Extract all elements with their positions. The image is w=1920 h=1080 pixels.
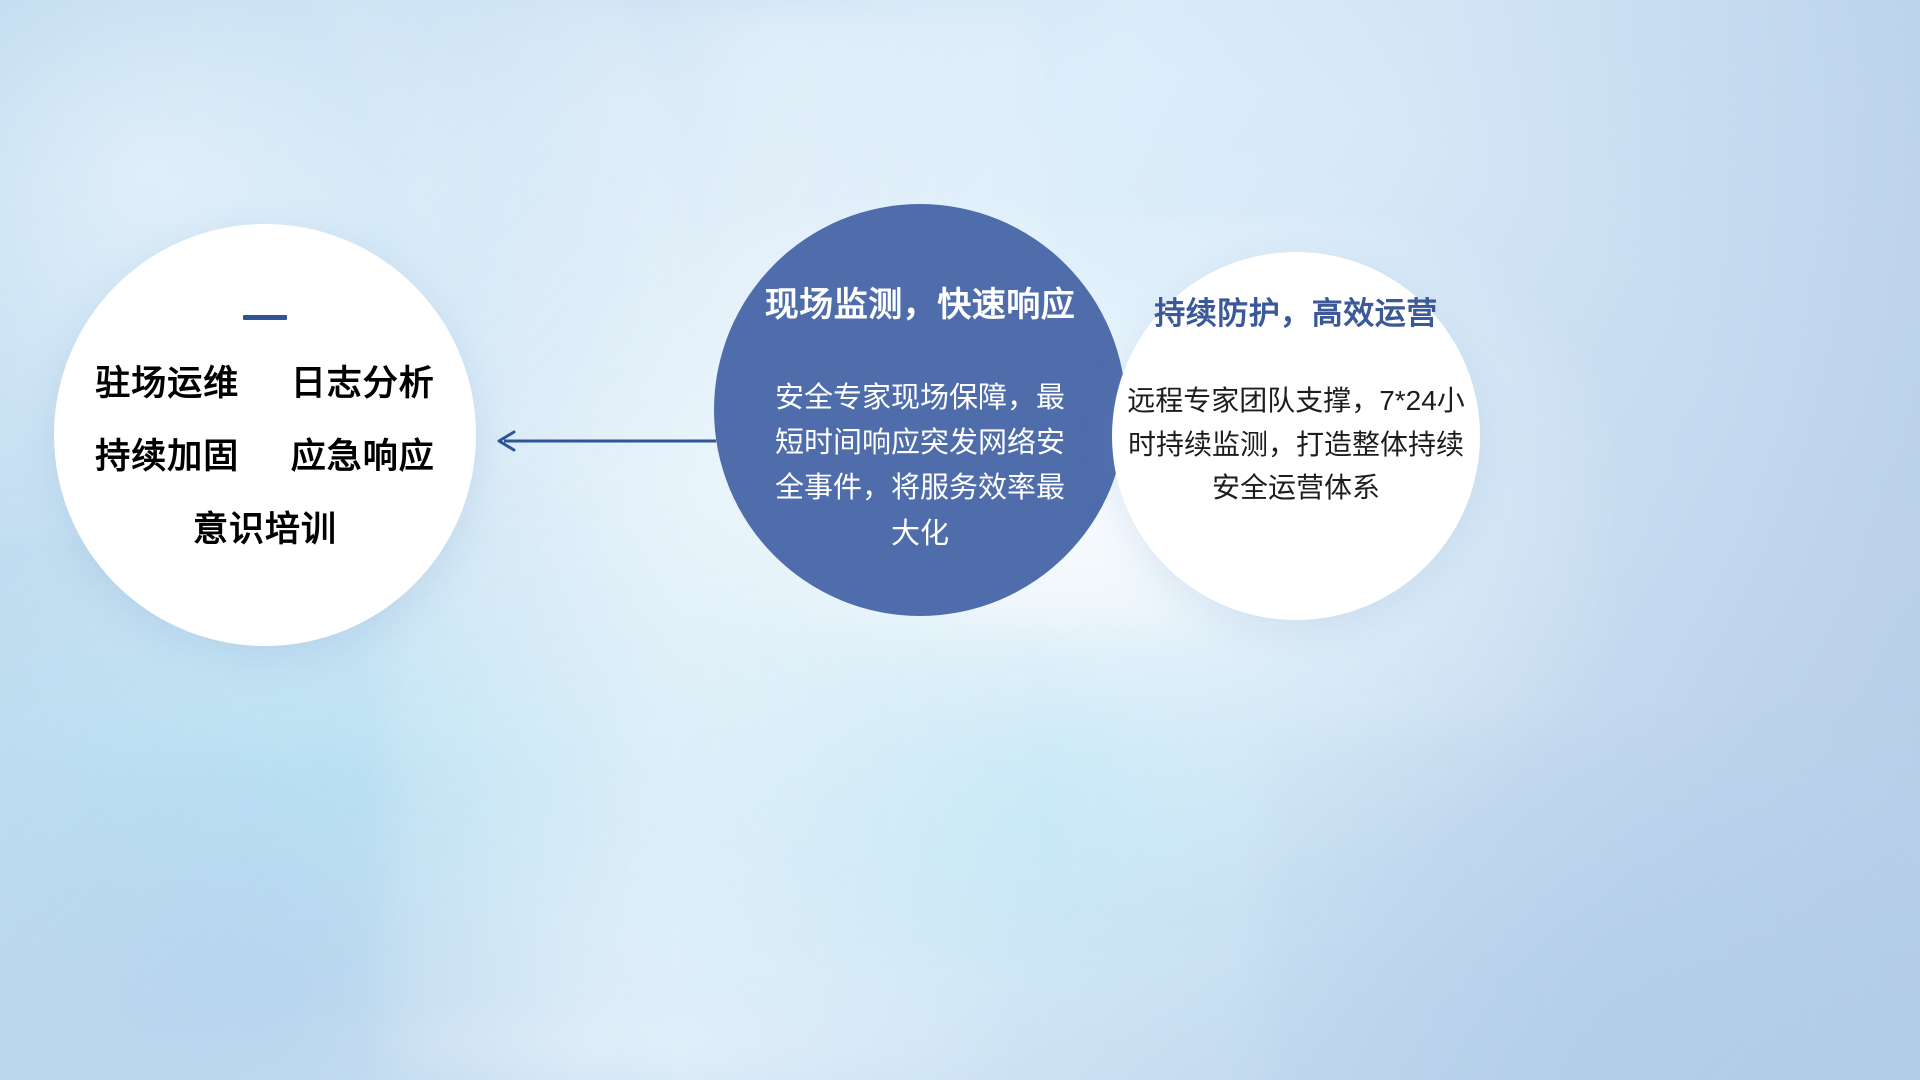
capability-label-awareness-training: 意识培训 [193,510,337,549]
capability-label-continuous-hardening: 持续加固 [95,437,239,476]
left-capability-circle: 驻场运维 日志分析 持续加固 应急响应 意识培训 [54,224,476,646]
right-circle-title: 持续防护，高效运营 [1154,298,1438,329]
capability-row-2: 持续加固 应急响应 [95,439,435,474]
capability-label-onsite-ops: 驻场运维 [95,364,239,403]
capability-row-3: 意识培训 [193,512,337,547]
middle-circle-body: 安全专家现场保障，最短时间响应突发网络安全事件，将服务效率最大化 [770,376,1070,557]
divider-dash-icon [243,315,287,320]
right-continuous-protection-circle: 持续防护，高效运营 远程专家团队支撑，7*24小时持续监测，打造整体持续安全运营… [1112,252,1480,620]
capability-row-1: 驻场运维 日志分析 [95,366,435,401]
middle-onsite-monitoring-circle: 现场监测，快速响应 安全专家现场保障，最短时间响应突发网络安全事件，将服务效率最… [714,204,1126,616]
middle-circle-title: 现场监测，快速响应 [765,288,1076,322]
right-circle-body: 远程专家团队支撑，7*24小时持续监测，打造整体持续安全运营体系 [1124,379,1468,510]
capability-label-log-analysis: 日志分析 [291,364,435,403]
capability-label-emergency-response: 应急响应 [291,437,435,476]
